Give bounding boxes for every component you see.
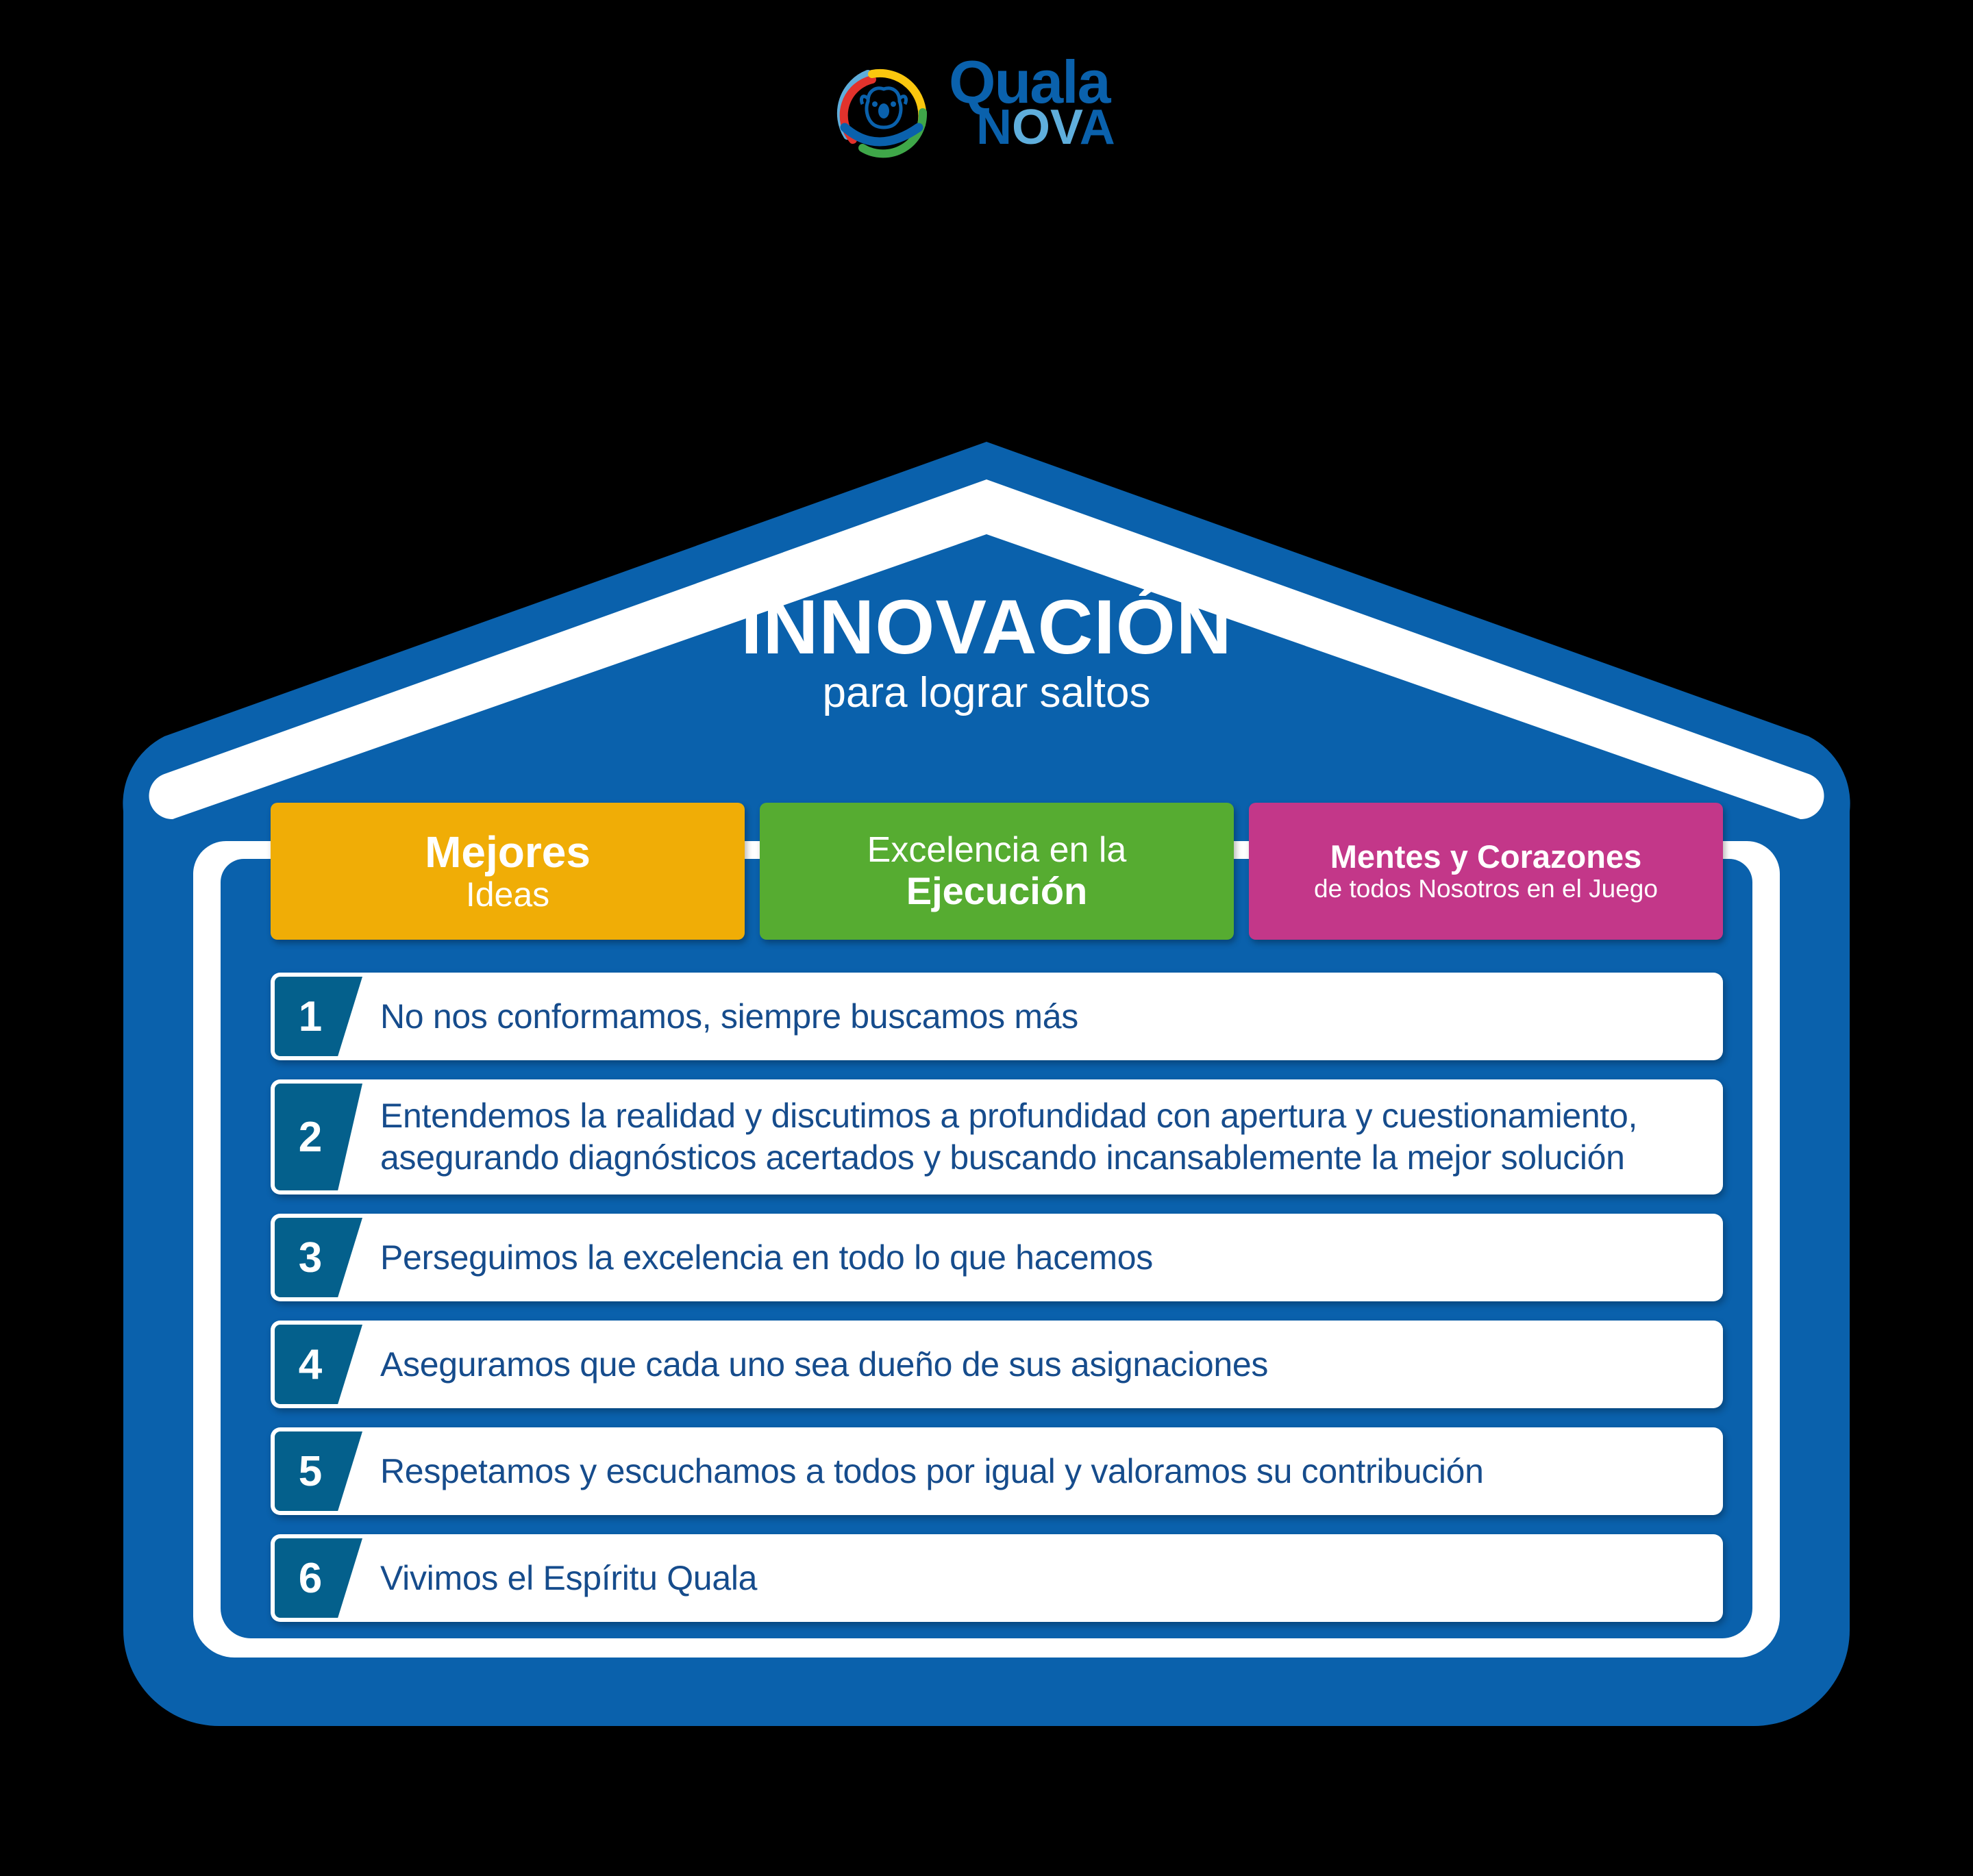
item-text-line1: Aseguramos que cada uno sea dueño de sus… bbox=[380, 1344, 1268, 1386]
principles-list: 1 No nos conformamos, siempre buscamos m… bbox=[271, 973, 1723, 1622]
item-text-line1: Entendemos la realidad y discutimos a pr… bbox=[380, 1095, 1637, 1137]
list-item[interactable]: 4 Aseguramos que cada uno sea dueño de s… bbox=[271, 1321, 1723, 1408]
item-number: 4 bbox=[299, 1340, 322, 1389]
item-text-line1: Perseguimos la excelencia en todo lo que… bbox=[380, 1237, 1153, 1279]
item-number-badge: 3 bbox=[275, 1218, 362, 1297]
pillar-line1: Excelencia en la bbox=[867, 831, 1127, 869]
pillar-line2: Ideas bbox=[466, 877, 549, 913]
item-number-badge: 4 bbox=[275, 1325, 362, 1404]
pillar-line2: de todos Nosotros en el Juego bbox=[1314, 875, 1658, 902]
item-number-badge: 6 bbox=[275, 1538, 362, 1618]
list-item[interactable]: 3 Perseguimos la excelencia en todo lo q… bbox=[271, 1214, 1723, 1301]
item-number: 2 bbox=[299, 1113, 322, 1162]
item-text: Respetamos y escuchamos a todos por igua… bbox=[362, 1427, 1723, 1515]
roof-title-block: INNOVACIÓN para lograr saltos bbox=[0, 589, 1973, 716]
item-text-line2: asegurando diagnósticos acertados y busc… bbox=[380, 1137, 1637, 1179]
item-number: 5 bbox=[299, 1447, 322, 1496]
list-item[interactable]: 5 Respetamos y escuchamos a todos por ig… bbox=[271, 1427, 1723, 1515]
item-number-badge: 5 bbox=[275, 1431, 362, 1511]
pillars-row: Mejores Ideas Excelencia en la Ejecución… bbox=[271, 803, 1723, 940]
item-text: Aseguramos que cada uno sea dueño de sus… bbox=[362, 1321, 1723, 1408]
page-subtitle: para lograr saltos bbox=[0, 670, 1973, 716]
house-content: Mejores Ideas Excelencia en la Ejecución… bbox=[271, 803, 1723, 1686]
item-text-line1: Vivimos el Espíritu Quala bbox=[380, 1558, 757, 1599]
item-text: No nos conformamos, siempre buscamos más bbox=[362, 973, 1723, 1060]
item-text-line1: No nos conformamos, siempre buscamos más bbox=[380, 996, 1078, 1038]
pillar-excelencia-ejecucion[interactable]: Excelencia en la Ejecución bbox=[760, 803, 1234, 940]
item-text: Vivimos el Espíritu Quala bbox=[362, 1534, 1723, 1622]
item-number-badge: 2 bbox=[275, 1084, 362, 1190]
pillar-mentes-corazones[interactable]: Mentes y Corazones de todos Nosotros en … bbox=[1249, 803, 1723, 940]
pillar-mejores-ideas[interactable]: Mejores Ideas bbox=[271, 803, 745, 940]
page-title: INNOVACIÓN bbox=[0, 589, 1973, 666]
item-number-badge: 1 bbox=[275, 977, 362, 1056]
item-text-line1: Respetamos y escuchamos a todos por igua… bbox=[380, 1451, 1484, 1492]
pillar-line2: Ejecución bbox=[906, 871, 1088, 911]
list-item[interactable]: 2 Entendemos la realidad y discutimos a … bbox=[271, 1079, 1723, 1195]
list-item[interactable]: 1 No nos conformamos, siempre buscamos m… bbox=[271, 973, 1723, 1060]
pillar-line1: Mentes y Corazones bbox=[1330, 840, 1641, 874]
item-number: 3 bbox=[299, 1234, 322, 1282]
list-item[interactable]: 6 Vivimos el Espíritu Quala bbox=[271, 1534, 1723, 1622]
item-text: Entendemos la realidad y discutimos a pr… bbox=[362, 1079, 1723, 1195]
pillar-line1: Mejores bbox=[425, 829, 591, 876]
item-number: 1 bbox=[299, 992, 322, 1041]
item-text: Perseguimos la excelencia en todo lo que… bbox=[362, 1214, 1723, 1301]
item-number: 6 bbox=[299, 1554, 322, 1603]
